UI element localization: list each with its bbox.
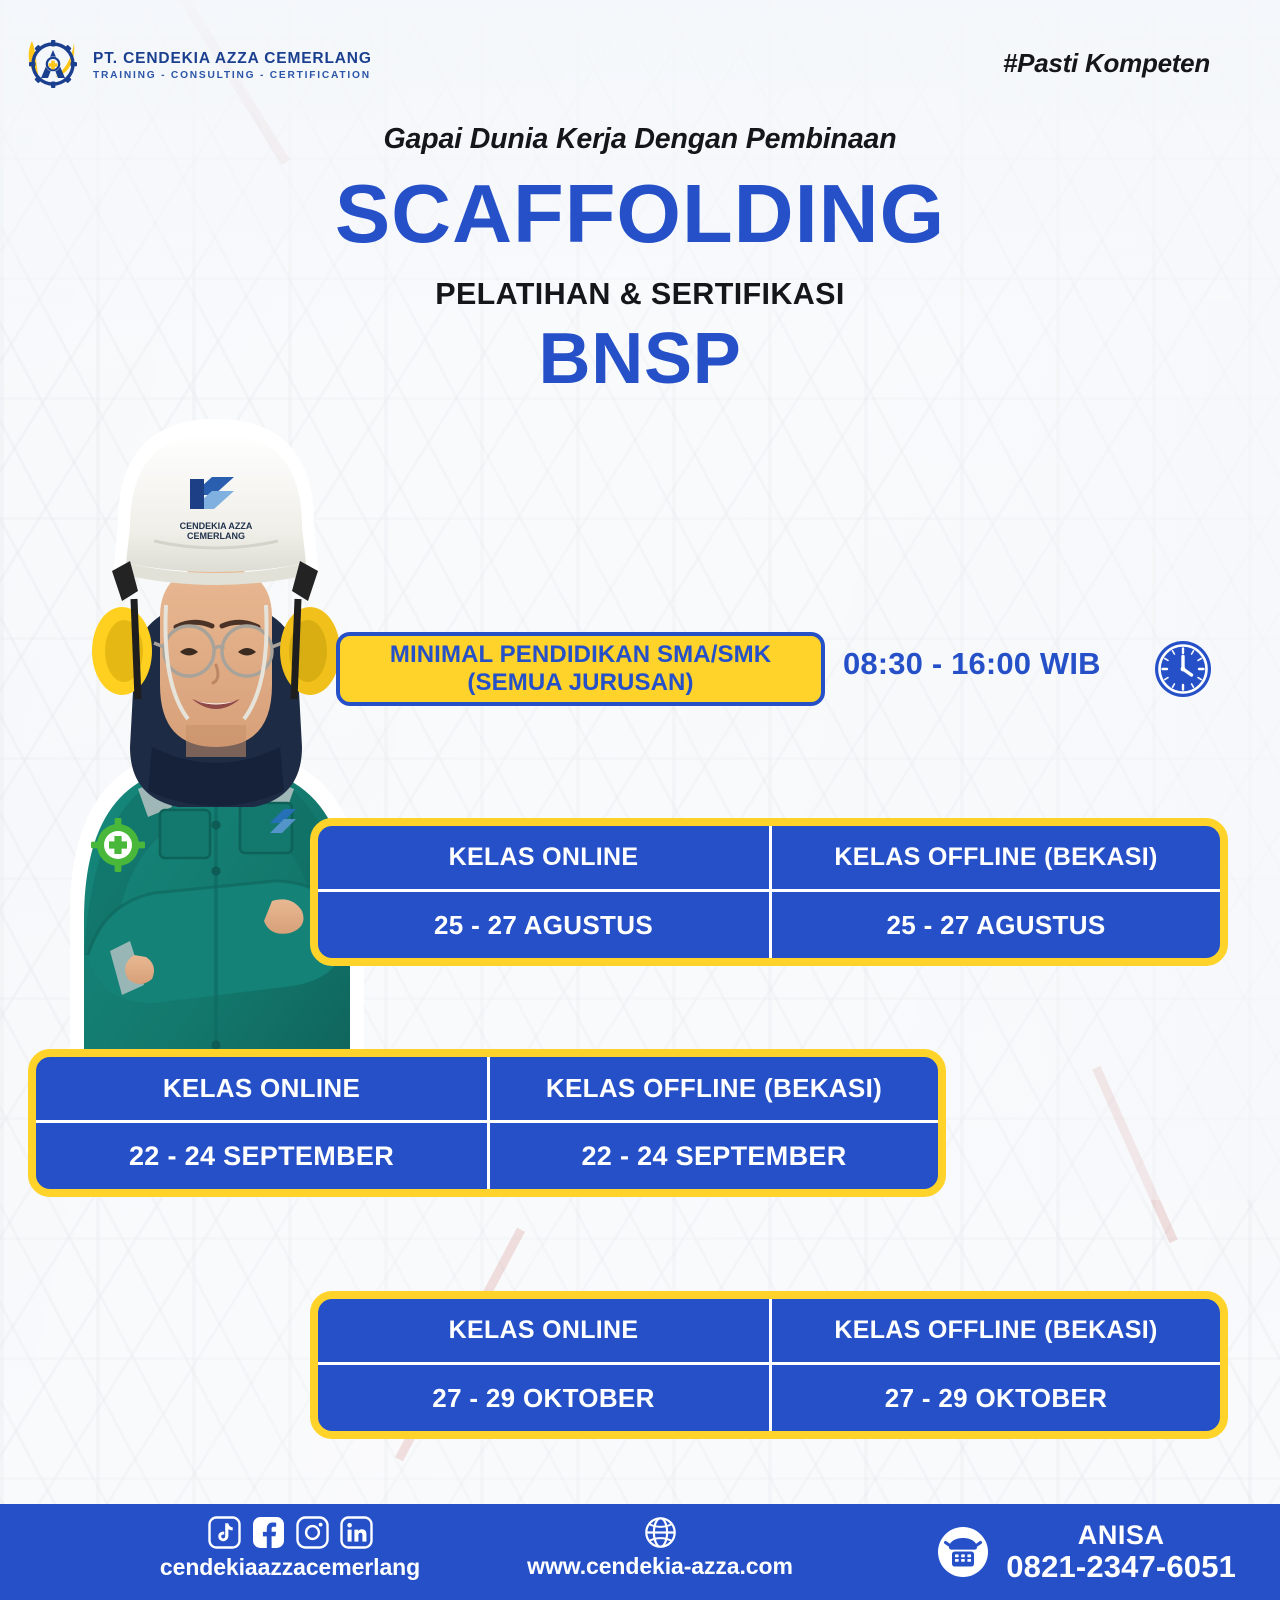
clock-icon xyxy=(1152,638,1214,700)
brand-hashtag: #Pasti Kompeten xyxy=(1003,48,1210,79)
social-handle[interactable]: cendekiaazzacemerlang xyxy=(160,1554,420,1581)
schedule-column-offline: KELAS OFFLINE (BEKASI) 22 - 24 SEPTEMBER xyxy=(487,1057,938,1189)
website-url[interactable]: www.cendekia-azza.com xyxy=(527,1553,793,1580)
schedule-offline-label: KELAS OFFLINE (BEKASI) xyxy=(772,826,1220,892)
schedule-offline-date: 25 - 27 AGUSTUS xyxy=(772,892,1220,958)
instructor-photo: CENDEKIA AZZA CEMERLANG xyxy=(26,355,406,1145)
tiktok-icon[interactable] xyxy=(208,1516,241,1549)
page-title: SCAFFOLDING xyxy=(0,172,1280,255)
svg-text:CEMERLANG: CEMERLANG xyxy=(187,531,245,541)
schedule-card[interactable]: KELAS ONLINE 27 - 29 OKTOBER KELAS OFFLI… xyxy=(310,1291,1228,1439)
education-requirement-line1: MINIMAL PENDIDIKAN SMA/SMK xyxy=(390,641,771,669)
contact-person-name: ANISA xyxy=(1078,1520,1165,1550)
schedule-card[interactable]: KELAS ONLINE 22 - 24 SEPTEMBER KELAS OFF… xyxy=(28,1049,946,1197)
contact-phone-number[interactable]: 0821-2347-6051 xyxy=(1006,1550,1236,1585)
schedule-online-date: 25 - 27 AGUSTUS xyxy=(318,892,769,958)
schedule-online-date: 22 - 24 SEPTEMBER xyxy=(36,1123,487,1189)
footer-bar: cendekiaazzacemerlang www.cendekia-azza.… xyxy=(0,1504,1280,1600)
schedule-online-label: KELAS ONLINE xyxy=(318,826,769,892)
logo-wordmark: PT. CENDEKIA AZZA CEMERLANG TRAINING - C… xyxy=(93,47,372,81)
telephone-icon[interactable] xyxy=(937,1526,989,1578)
company-logo-block: PT. CENDEKIA AZZA CEMERLANG TRAINING - C… xyxy=(22,33,372,95)
schedule-online-date: 27 - 29 OKTOBER xyxy=(318,1365,769,1431)
poster-tagline: Gapai Dunia Kerja Dengan Pembinaan xyxy=(0,123,1280,156)
contact-details: ANISA 0821-2347-6051 xyxy=(1006,1520,1236,1585)
poster-canvas: PT. CENDEKIA AZZA CEMERLANG TRAINING - C… xyxy=(0,0,1280,1600)
schedule-online-label: KELAS ONLINE xyxy=(318,1299,769,1365)
website-block: www.cendekia-azza.com xyxy=(465,1516,855,1580)
instagram-icon[interactable] xyxy=(296,1516,329,1549)
schedule-column-online: KELAS ONLINE 25 - 27 AGUSTUS xyxy=(318,826,769,958)
schedule-column-online: KELAS ONLINE 27 - 29 OKTOBER xyxy=(318,1299,769,1431)
gear-compass-leaf-logo-icon xyxy=(22,33,84,95)
schedule-column-offline: KELAS OFFLINE (BEKASI) 25 - 27 AGUSTUS xyxy=(769,826,1220,958)
training-time: 08:30 - 16:00 WIB xyxy=(843,646,1101,682)
schedule-offline-date: 22 - 24 SEPTEMBER xyxy=(490,1123,938,1189)
globe-icon xyxy=(644,1516,677,1549)
schedule-offline-label: KELAS OFFLINE (BEKASI) xyxy=(772,1299,1220,1365)
schedule-column-online: KELAS ONLINE 22 - 24 SEPTEMBER xyxy=(36,1057,487,1189)
social-media-block: cendekiaazzacemerlang xyxy=(95,1516,485,1581)
poster-subtitle: PELATIHAN & SERTIFIKASI xyxy=(0,277,1280,312)
schedule-column-offline: KELAS OFFLINE (BEKASI) 27 - 29 OKTOBER xyxy=(769,1299,1220,1431)
contact-block: ANISA 0821-2347-6051 xyxy=(937,1520,1236,1585)
company-services-tagline: TRAINING - CONSULTING - CERTIFICATION xyxy=(93,70,372,81)
education-requirement-badge: MINIMAL PENDIDIKAN SMA/SMK (SEMUA JURUSA… xyxy=(336,632,825,706)
company-name: PT. CENDEKIA AZZA CEMERLANG xyxy=(93,50,372,68)
linkedin-icon[interactable] xyxy=(340,1516,373,1549)
schedule-online-label: KELAS ONLINE xyxy=(36,1057,487,1123)
svg-text:CENDEKIA AZZA: CENDEKIA AZZA xyxy=(180,521,253,531)
facebook-icon[interactable] xyxy=(252,1516,285,1549)
instructor-photo-illustration: CENDEKIA AZZA CEMERLANG xyxy=(26,355,406,1145)
schedule-offline-label: KELAS OFFLINE (BEKASI) xyxy=(490,1057,938,1123)
education-requirement-line2: (SEMUA JURUSAN) xyxy=(467,669,693,697)
social-icon-row xyxy=(208,1516,373,1549)
schedule-offline-date: 27 - 29 OKTOBER xyxy=(772,1365,1220,1431)
schedule-card[interactable]: KELAS ONLINE 25 - 27 AGUSTUS KELAS OFFLI… xyxy=(310,818,1228,966)
